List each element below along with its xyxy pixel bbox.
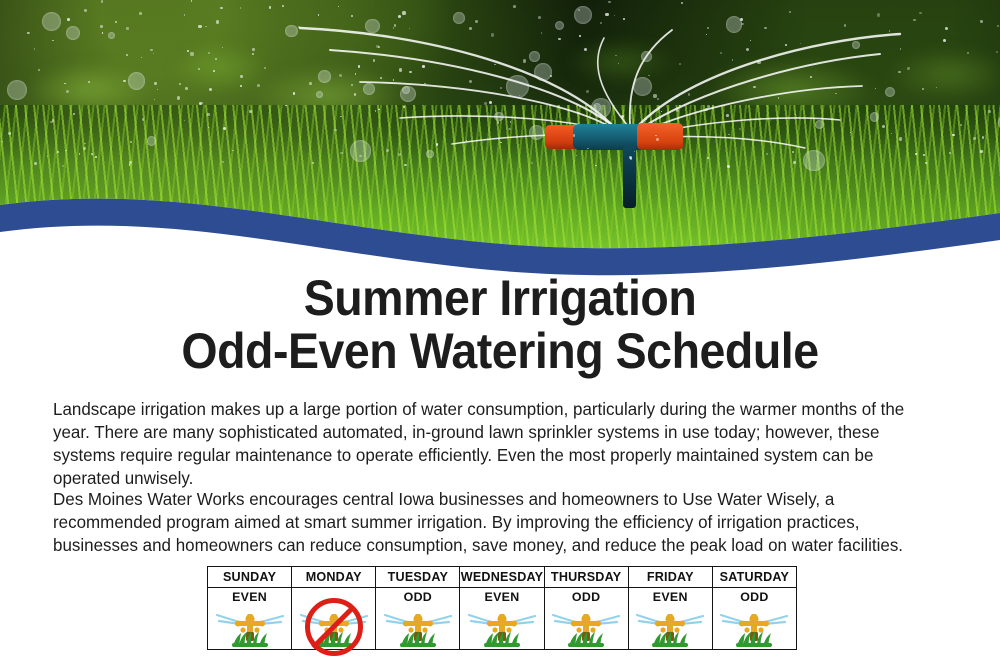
water-droplet	[142, 118, 144, 120]
sprinkler-icon	[381, 605, 455, 647]
water-droplet	[608, 1, 610, 3]
bokeh-droplet	[426, 150, 434, 158]
bokeh-droplet	[574, 6, 592, 24]
water-droplet	[500, 87, 502, 89]
parity-label: EVEN	[208, 590, 291, 604]
parity-label: ODD	[376, 590, 459, 604]
water-droplet	[579, 35, 581, 37]
water-droplet	[198, 68, 199, 69]
bokeh-droplet	[641, 51, 652, 62]
water-droplet	[123, 80, 125, 82]
bokeh-droplet	[7, 80, 27, 100]
program-paragraph: Des Moines Water Works encourages centra…	[53, 488, 948, 571]
day-cell-content: ODD	[545, 590, 628, 649]
water-droplet	[653, 94, 656, 97]
water-droplet	[891, 133, 892, 134]
bokeh-droplet	[318, 70, 331, 83]
bokeh-droplet	[42, 12, 61, 31]
water-droplet	[952, 134, 954, 136]
water-droplet	[835, 93, 836, 94]
water-droplet	[882, 125, 885, 128]
water-droplet	[340, 152, 343, 155]
water-droplet	[538, 16, 541, 19]
water-droplet	[403, 106, 405, 108]
day-header-saturday: SATURDAY	[712, 567, 796, 588]
water-droplet	[727, 165, 730, 168]
day-header-thursday: THURSDAY	[544, 567, 628, 588]
sprinkler-icon	[633, 605, 707, 647]
bokeh-droplet	[870, 112, 880, 122]
day-cell-content: EVEN	[208, 590, 291, 649]
water-droplet	[484, 102, 487, 105]
bokeh-droplet	[365, 19, 379, 33]
water-droplet	[252, 53, 254, 55]
water-droplet	[399, 68, 402, 71]
parity-label: ODD	[713, 590, 796, 604]
water-droplet	[469, 27, 472, 30]
bokeh-droplet	[633, 77, 652, 96]
water-droplet	[375, 110, 377, 112]
day-header-sunday: SUNDAY	[208, 567, 292, 588]
water-droplet	[184, 120, 185, 121]
water-droplet	[494, 64, 495, 65]
bokeh-droplet	[555, 21, 564, 30]
water-droplet	[84, 9, 87, 12]
water-droplet	[793, 161, 796, 164]
odd-even-watering-schedule-table: SUNDAYMONDAYTUESDAYWEDNESDAYTHURSDAYFRID…	[207, 566, 797, 650]
day-cell-monday: -	[292, 588, 376, 650]
poster-page: Summer Irrigation Odd-Even Watering Sche…	[0, 0, 1000, 667]
day-header-tuesday: TUESDAY	[376, 567, 460, 588]
water-droplet	[973, 137, 975, 139]
day-cell-wednesday: EVEN	[460, 588, 544, 650]
water-droplet	[198, 25, 201, 28]
parity-label: EVEN	[460, 590, 543, 604]
water-droplet	[770, 120, 771, 121]
water-droplet	[746, 48, 749, 51]
bokeh-droplet	[108, 32, 115, 39]
water-droplet	[269, 6, 272, 9]
water-droplet	[877, 13, 880, 16]
paragraph-2-text: Des Moines Water Works encourages centra…	[53, 488, 917, 557]
day-cell-content: -	[292, 590, 375, 649]
water-droplet	[621, 115, 624, 118]
water-droplet	[154, 99, 155, 100]
water-droplet	[115, 21, 117, 23]
sprinkler-barrel	[573, 124, 647, 150]
sprinkler-icon	[213, 605, 287, 647]
water-droplet	[185, 87, 188, 90]
sprinkler-icon	[717, 605, 791, 647]
water-droplet	[634, 151, 635, 152]
water-droplet	[436, 143, 439, 146]
day-header-friday: FRIDAY	[628, 567, 712, 588]
water-droplet	[810, 76, 812, 78]
water-droplet	[205, 26, 206, 27]
water-droplet	[899, 137, 902, 140]
water-droplet	[600, 22, 602, 24]
water-droplet	[919, 12, 922, 15]
bokeh-droplet	[529, 51, 540, 62]
sprinkler-icon	[717, 605, 791, 647]
table-header-row: SUNDAYMONDAYTUESDAYWEDNESDAYTHURSDAYFRID…	[208, 567, 797, 588]
water-droplet	[139, 12, 142, 15]
water-droplet	[844, 24, 847, 27]
water-droplet	[623, 18, 625, 20]
water-droplet	[988, 110, 991, 113]
water-droplet	[88, 81, 90, 83]
water-droplet	[792, 151, 794, 153]
water-droplet	[980, 150, 983, 153]
water-droplet	[681, 2, 683, 4]
water-droplet	[629, 156, 632, 159]
water-droplet	[875, 88, 876, 89]
bokeh-droplet	[400, 86, 416, 102]
bokeh-droplet	[453, 12, 465, 24]
bokeh-droplet	[494, 112, 504, 122]
water-droplet	[728, 134, 729, 135]
water-droplet	[615, 55, 616, 56]
water-droplet	[705, 108, 708, 111]
page-title: Summer Irrigation Odd-Even Watering Sche…	[0, 272, 1000, 378]
water-droplet	[50, 121, 53, 124]
sprinkler-icon	[381, 605, 455, 647]
water-droplet	[293, 92, 296, 95]
water-droplet	[508, 128, 510, 130]
water-droplet	[207, 113, 209, 115]
bokeh-droplet	[852, 41, 860, 49]
bokeh-droplet	[506, 75, 528, 97]
day-cell-sunday: EVEN	[208, 588, 292, 650]
water-droplet	[79, 153, 81, 155]
water-droplet	[126, 54, 128, 56]
title-line-1: Summer Irrigation	[35, 272, 965, 325]
water-droplet	[252, 48, 254, 50]
water-droplet	[338, 6, 339, 7]
water-droplet	[141, 57, 142, 58]
day-cell-tuesday: ODD	[376, 588, 460, 650]
day-cell-saturday: ODD	[712, 588, 796, 650]
water-droplet	[469, 80, 472, 83]
water-droplet	[513, 5, 516, 8]
water-droplet	[402, 11, 405, 14]
water-droplet	[489, 101, 492, 104]
parity-label: ODD	[545, 590, 628, 604]
water-droplet	[100, 25, 103, 28]
water-droplet	[154, 82, 156, 84]
water-droplet	[2, 141, 3, 142]
water-droplet	[943, 39, 946, 42]
water-droplet	[732, 59, 733, 60]
water-droplet	[298, 26, 300, 28]
day-header-monday: MONDAY	[292, 567, 376, 588]
day-cell-content: ODD	[376, 590, 459, 649]
water-droplet	[605, 13, 608, 16]
day-cell-thursday: ODD	[544, 588, 628, 650]
water-droplet	[907, 67, 910, 70]
bokeh-droplet	[726, 16, 742, 32]
water-droplet	[95, 156, 97, 158]
sprinkler-right-cap	[637, 123, 683, 150]
day-cell-friday: EVEN	[628, 588, 712, 650]
water-droplet	[216, 20, 219, 23]
sprinkler-icon	[633, 605, 707, 647]
water-droplet	[220, 7, 222, 9]
water-droplet	[83, 147, 85, 149]
water-droplet	[424, 83, 425, 84]
water-droplet	[398, 153, 401, 156]
no-watering-icon	[305, 598, 363, 656]
sprinkler-icon	[549, 605, 623, 647]
water-droplet	[129, 161, 132, 164]
water-droplet	[922, 88, 924, 90]
sprinkler-icon	[213, 605, 287, 647]
water-droplet	[576, 155, 577, 156]
water-droplet	[785, 44, 787, 46]
water-droplet	[179, 83, 181, 85]
water-droplet	[409, 71, 411, 73]
water-droplet	[34, 162, 37, 165]
water-droplet	[980, 20, 983, 23]
water-droplet	[199, 102, 202, 105]
water-droplet	[257, 84, 260, 87]
water-droplet	[177, 96, 180, 99]
bokeh-droplet	[147, 136, 157, 146]
sprinkler-icon	[465, 605, 539, 647]
water-droplet	[47, 155, 48, 156]
water-droplet	[249, 110, 252, 113]
day-cell-content: EVEN	[460, 590, 543, 649]
bokeh-droplet	[885, 87, 895, 97]
water-droplet	[67, 18, 70, 21]
water-droplet	[318, 14, 319, 15]
water-droplet	[190, 52, 193, 55]
water-droplet	[915, 153, 917, 155]
sprinkler-icon	[465, 605, 539, 647]
water-droplet	[676, 109, 679, 112]
water-droplet	[57, 151, 59, 153]
water-droplet	[898, 71, 900, 73]
water-droplet	[586, 90, 589, 93]
bokeh-droplet	[285, 25, 298, 38]
water-droplet	[766, 153, 768, 155]
sprinkler-icon	[549, 605, 623, 647]
water-droplet	[925, 162, 926, 163]
water-droplet	[222, 47, 223, 48]
water-droplet	[587, 148, 588, 149]
title-line-2: Odd-Even Watering Schedule	[35, 325, 965, 378]
day-cell-content: ODD	[713, 590, 796, 649]
sprinkler-head	[545, 120, 685, 150]
water-droplet	[510, 121, 511, 122]
water-droplet	[679, 63, 681, 65]
bokeh-droplet	[350, 140, 372, 162]
water-droplet	[126, 27, 128, 29]
water-droplet	[84, 143, 85, 144]
table-row: EVEN -	[208, 588, 797, 650]
water-droplet	[778, 97, 779, 98]
water-droplet	[913, 19, 915, 21]
bokeh-droplet	[128, 72, 145, 89]
water-droplet	[656, 138, 659, 141]
day-header-wednesday: WEDNESDAY	[460, 567, 544, 588]
water-droplet	[757, 61, 760, 64]
water-droplet	[334, 129, 336, 131]
water-droplet	[648, 75, 649, 76]
water-droplet	[215, 58, 217, 60]
water-droplet	[997, 25, 999, 27]
water-droplet	[101, 0, 103, 2]
water-droplet	[764, 27, 767, 30]
paragraph-1-text: Landscape irrigation makes up a large po…	[53, 398, 917, 490]
water-droplet	[209, 88, 212, 91]
water-droplet	[191, 0, 192, 1]
water-droplet	[655, 135, 656, 136]
parity-label: EVEN	[629, 590, 712, 604]
day-cell-content: EVEN	[629, 590, 712, 649]
water-droplet	[38, 69, 40, 71]
